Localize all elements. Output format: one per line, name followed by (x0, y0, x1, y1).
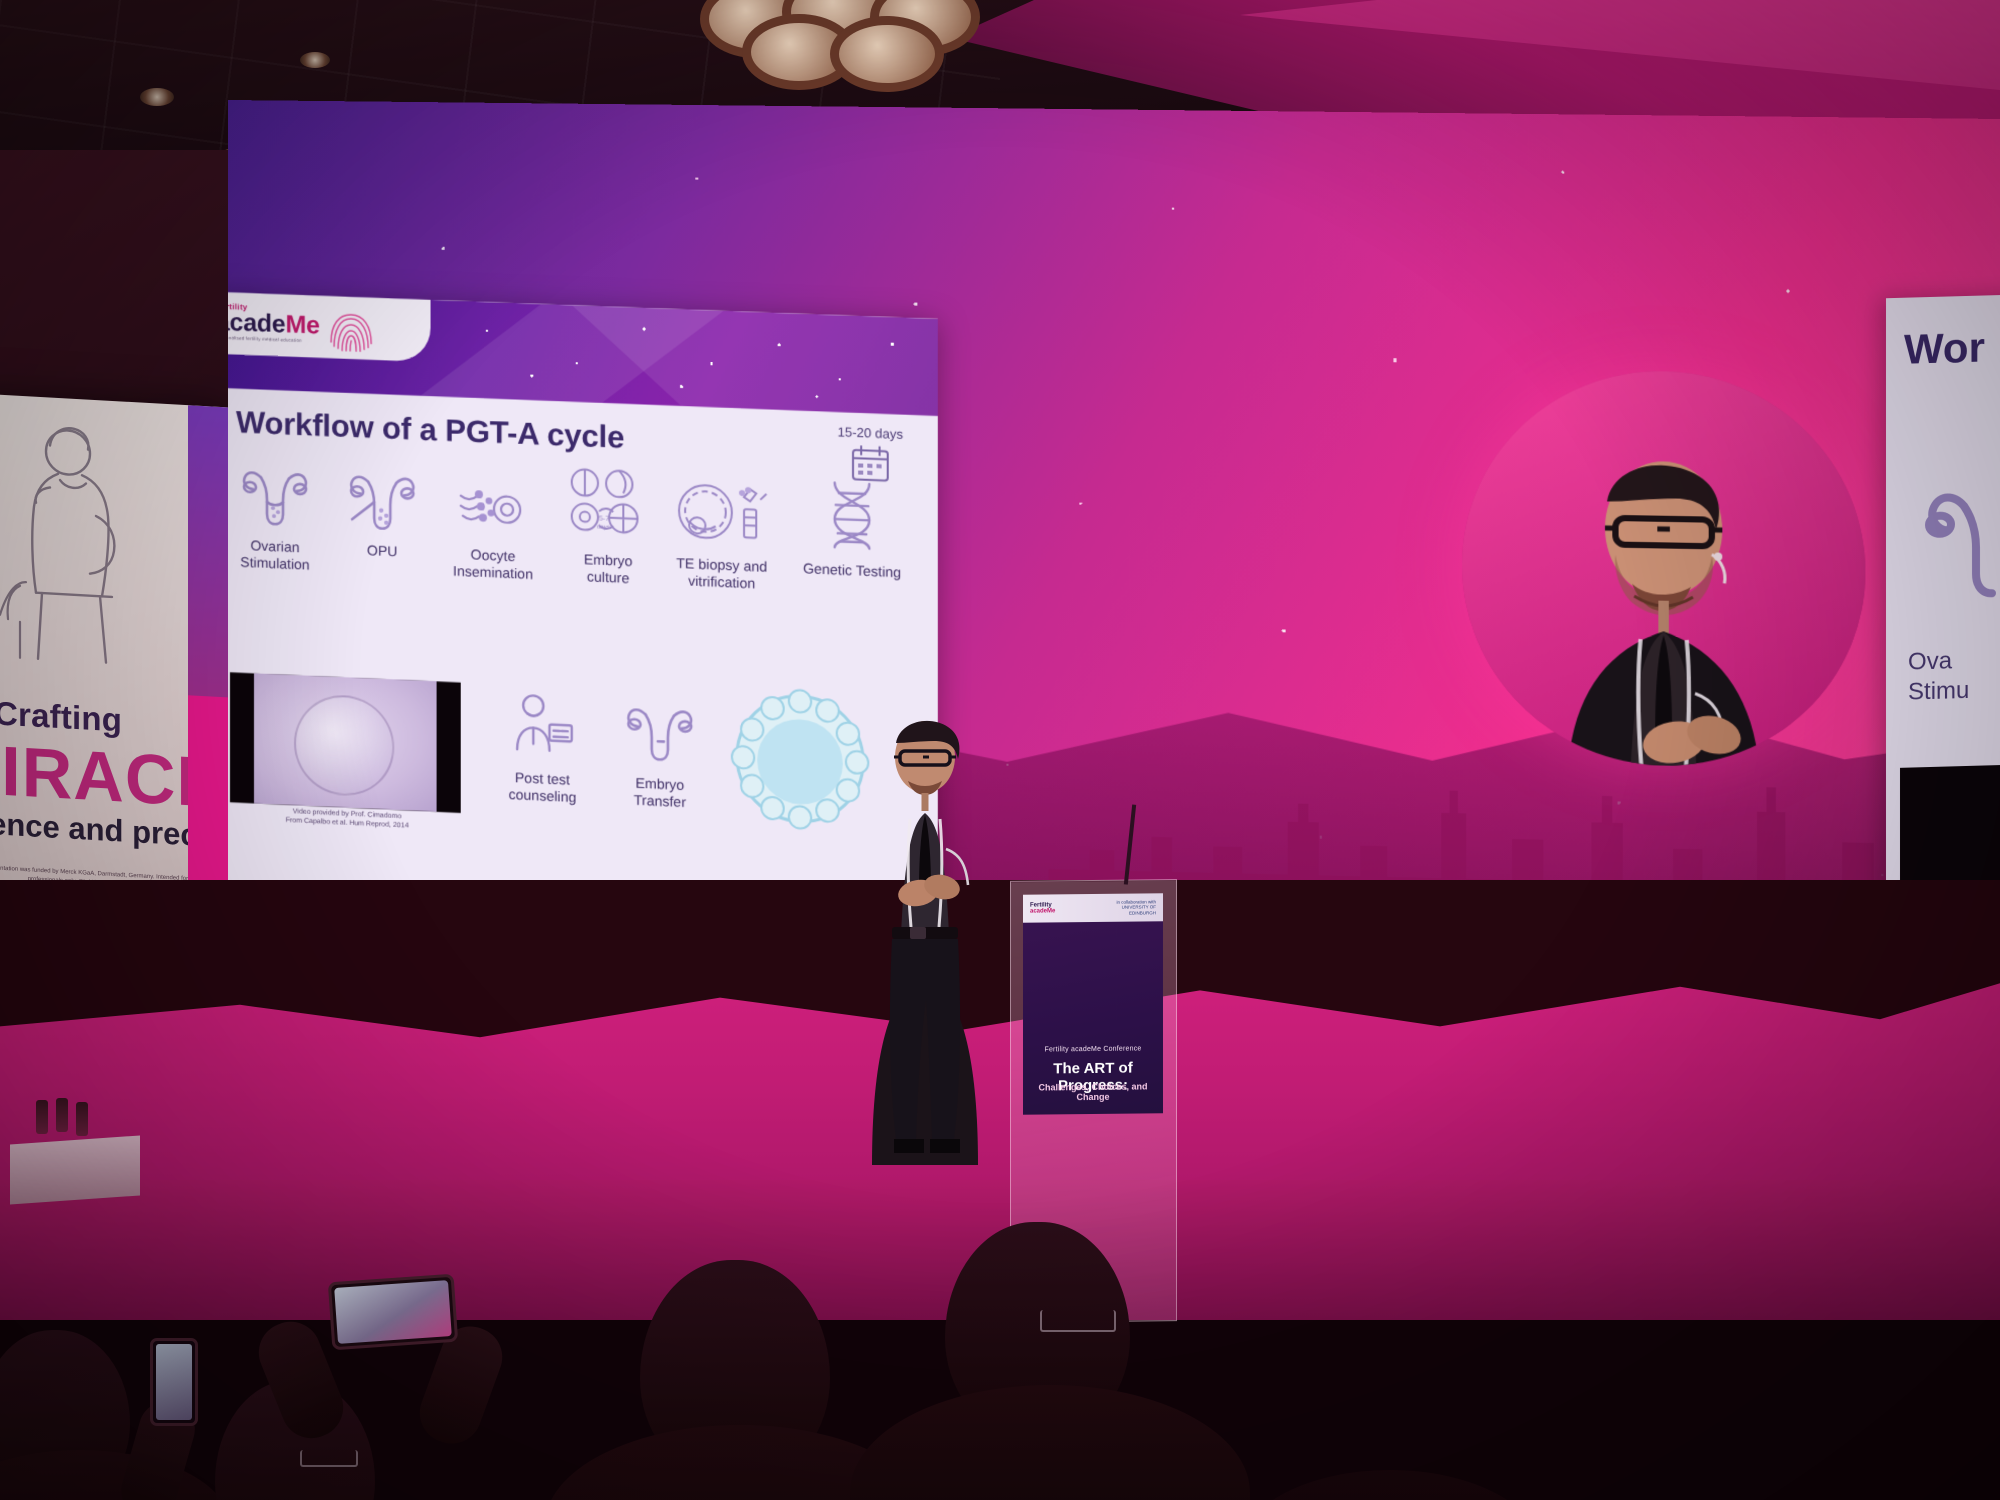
secondary-label-line-1: Ova (1908, 646, 1969, 678)
uterus-ovaries-icon (1920, 464, 2000, 628)
eyeglasses-icon (1040, 1310, 1116, 1332)
uterus-needle-icon (344, 457, 420, 536)
ceiling-spotlight-icon (300, 52, 330, 68)
svg-text:5-7: 5-7 (599, 515, 609, 522)
workflow-step-label: Embryo Transfer (634, 775, 686, 810)
workflow-step-label: Genetic Testing (803, 560, 901, 580)
workflow-step-label: Oocyte Insemination (453, 546, 533, 581)
main-projection-screen: Fertility acadeMe Personalised fertility… (228, 100, 2000, 955)
podium-kicker: Fertility acadeMe Conference (1023, 1045, 1163, 1053)
speaker-on-stage (830, 715, 1020, 1165)
uterus-ovaries-icon (237, 453, 313, 532)
pregnant-woman-line-icon (0, 414, 150, 673)
phone-screen (156, 1344, 192, 1420)
smartphone-portrait[interactable] (150, 1338, 198, 1426)
academe-logo: Fertility acadeMe Personalised fertility… (228, 302, 366, 352)
blastocyst-biopsy-icon (671, 470, 773, 551)
chandelier-icon (690, 0, 990, 80)
workflow-step-label: Ovarian Stimulation (240, 537, 309, 572)
workflow-step: 5-7 days Embryo culture (556, 465, 661, 587)
workflow-steps-row-2: Video provided by Prof. Cimadomo From Ca… (228, 652, 928, 855)
podium-partner-logo: in collaboration with UNIVERSITY OF EDIN… (1116, 899, 1156, 916)
audience-shoulders (1240, 1470, 1540, 1500)
slide-logo-plate: Fertility acadeMe Personalised fertility… (228, 291, 431, 362)
calendar-icon (850, 444, 891, 484)
workflow-step-label: Post test counseling (509, 769, 577, 804)
eyeglasses-icon (300, 1450, 358, 1467)
water-bottle-icon (56, 1098, 68, 1132)
duration-badge-label: 15-20 days (837, 424, 903, 442)
water-bottle-icon (76, 1102, 88, 1136)
embryo-cell-image (294, 693, 394, 798)
workflow-step: Post test counseling (487, 688, 598, 807)
duration-badge: 15-20 days (837, 424, 903, 489)
conference-photo: Crafting MIRACLES science and precision … (0, 0, 2000, 1500)
podium-subtitle: Challenges, Choices, and Change (1023, 1081, 1163, 1102)
podium-graphic-panel: Fertility acadeMe Conference The ART of … (1023, 893, 1163, 1114)
secondary-label-line-2: Stimu (1908, 676, 1969, 708)
embryo-cleavage-icon: 5-7 days (565, 466, 652, 546)
speaker-video-circle (1462, 368, 1865, 770)
audience (0, 1150, 2000, 1500)
workflow-step: TE biopsy and vitrification (659, 469, 785, 592)
secondary-screen-title: Wor (1904, 323, 1985, 373)
secondary-screen-label: Ova Stimu (1908, 646, 1969, 708)
sperm-oocyte-icon (455, 461, 532, 540)
smartphone-landscape[interactable] (328, 1274, 458, 1351)
banner-stripe-purple (188, 405, 230, 737)
fingerprint-icon (328, 308, 374, 354)
workflow-step-label: TE biopsy and vitrification (676, 555, 767, 591)
workflow-step-label: OPU (367, 542, 397, 559)
workflow-step: Ovarian Stimulation (228, 452, 330, 574)
svg-text:days: days (597, 524, 610, 531)
workflow-steps-row-1: Ovarian Stimulation OPU (228, 452, 928, 683)
phone-screen (334, 1280, 452, 1344)
podium-logo-strip: Fertility acadeMe in collaboration with … (1023, 893, 1163, 922)
water-bottle-icon (36, 1100, 48, 1134)
workflow-step: OPU (332, 456, 432, 561)
workflow-step-label: Embryo culture (584, 551, 633, 586)
ceiling-spotlight-icon (140, 88, 174, 106)
audience-shoulders (0, 1450, 230, 1500)
workflow-step: Oocyte Insemination (433, 460, 554, 583)
podium-academe-logo: Fertility acadeMe (1030, 902, 1055, 914)
embryo-video-still (254, 673, 437, 811)
embryo-video-frame (230, 672, 461, 813)
uterus-transfer-icon (621, 693, 698, 769)
workflow-step: Genetic Testing (785, 475, 920, 582)
workflow-step: Embryo Transfer (604, 693, 716, 812)
speaker-video-portrait (1506, 432, 1820, 770)
doctor-icon (507, 688, 578, 764)
audience-shoulders (850, 1385, 1250, 1500)
